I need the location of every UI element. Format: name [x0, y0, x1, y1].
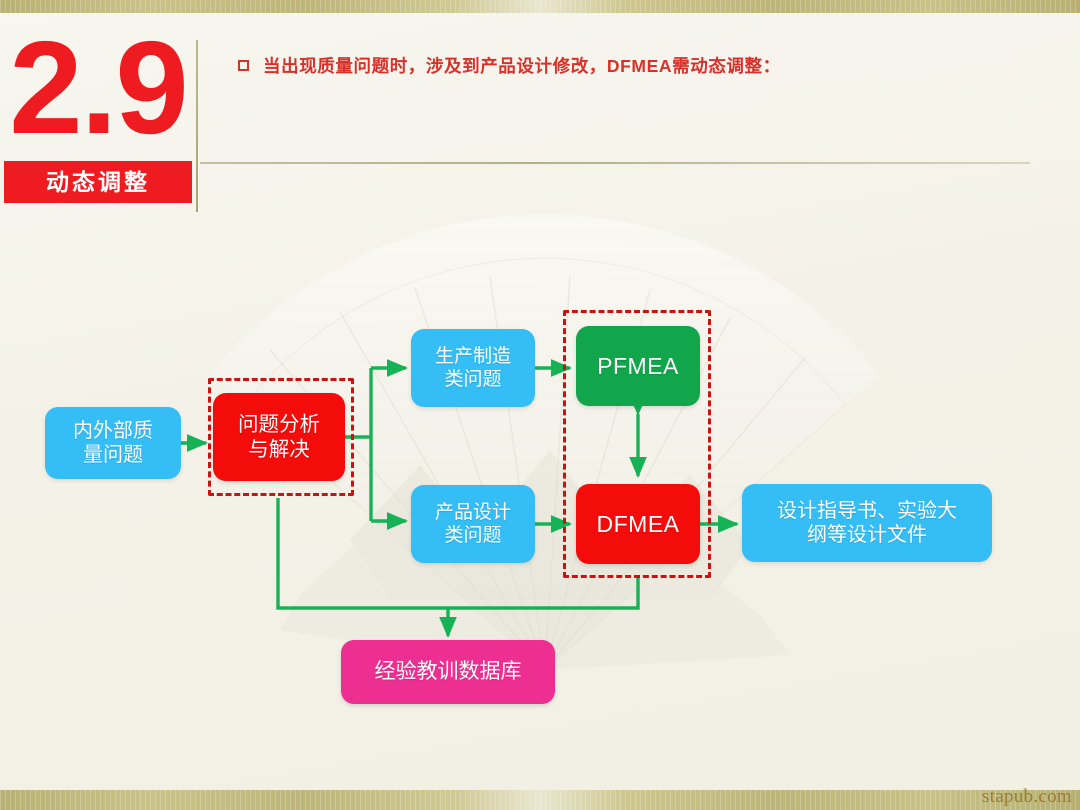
slide-canvas: 2.9 动态调整 当出现质量问题时，涉及到产品设计修改，DFMEA需动态调整：: [0, 0, 1080, 810]
node-docs-line2: 纲等设计文件: [777, 523, 957, 547]
node-analysis-line1: 问题分析: [238, 412, 320, 437]
node-analysis-line2: 与解决: [238, 437, 320, 462]
node-analysis[interactable]: 问题分析 与解决: [213, 393, 345, 481]
node-database-label: 经验教训数据库: [375, 659, 522, 685]
node-pfmea[interactable]: PFMEA: [576, 326, 700, 406]
node-dfmea-label: DFMEA: [597, 510, 680, 538]
node-lessons-learned-database[interactable]: 经验教训数据库: [341, 640, 555, 704]
node-design-documents[interactable]: 设计指导书、实验大 纲等设计文件: [742, 484, 992, 562]
node-source[interactable]: 内外部质 量问题: [45, 407, 181, 479]
node-dfmea[interactable]: DFMEA: [576, 484, 700, 564]
node-pfmea-label: PFMEA: [597, 352, 679, 380]
node-docs-line1: 设计指导书、实验大: [777, 499, 957, 523]
node-design-issue[interactable]: 产品设计 类问题: [411, 485, 535, 563]
node-design-line1: 产品设计: [435, 501, 511, 524]
flow-diagram: 内外部质 量问题 问题分析 与解决 生产制造 类问题 产品设计 类问题 PFME…: [0, 0, 1080, 810]
node-source-line1: 内外部质: [73, 419, 153, 443]
node-design-line2: 类问题: [435, 524, 511, 547]
node-manufacturing-issue[interactable]: 生产制造 类问题: [411, 329, 535, 407]
node-mfg-line1: 生产制造: [435, 345, 511, 368]
node-source-line2: 量问题: [73, 443, 153, 467]
node-mfg-line2: 类问题: [435, 368, 511, 391]
site-watermark: stapub.com: [982, 786, 1072, 808]
